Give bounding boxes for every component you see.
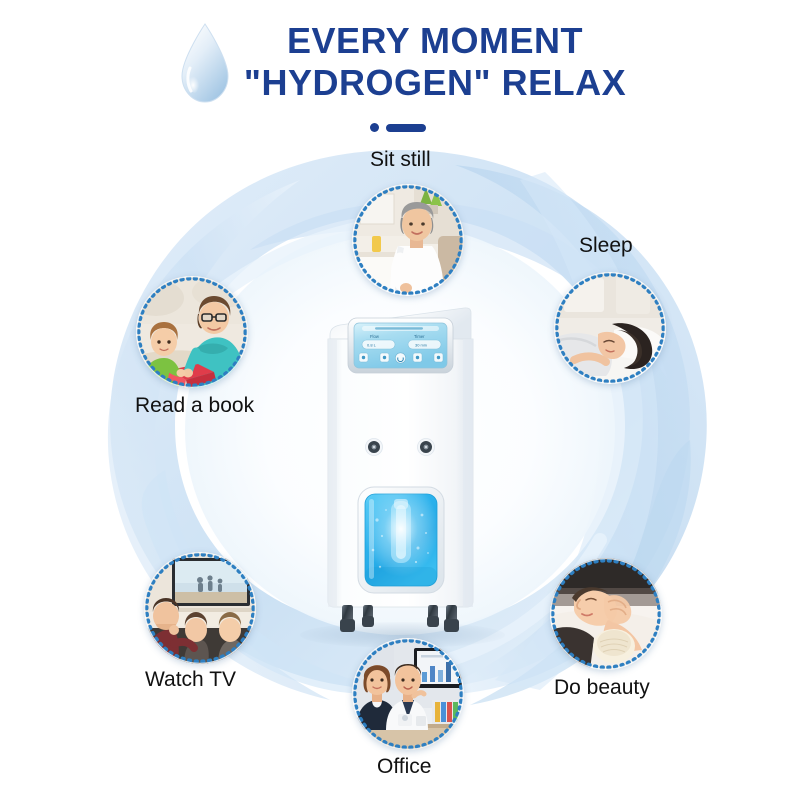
scene-photo-read-a-book[interactable] [136,276,248,388]
photo-woman-sleeping [554,272,666,384]
scene-sleep[interactable]: Sleep [554,272,666,384]
hydrogen-water-machine: Flow Timer 0.8 L 30 min [318,305,483,635]
divider-bar [386,124,426,132]
title-block: EVERY MOMENT "HYDROGEN" RELAX [205,20,665,104]
scene-label-sit-still: Sit still [370,148,431,172]
scene-watch-tv[interactable]: Watch TV [144,552,256,664]
scene-photo-watch-tv[interactable] [144,552,256,664]
scene-photo-do-beauty[interactable] [550,558,662,670]
control-panel-bezel: Flow Timer 0.8 L 30 min [348,318,453,373]
scene-photo-sit-still[interactable] [352,184,464,296]
illuminated-water-tank [358,487,444,593]
scene-label-watch-tv: Watch TV [145,668,236,692]
photo-mother-and-child-reading [136,276,248,388]
divider-dot [370,123,379,132]
scene-label-office: Office [377,755,431,779]
svg-text:30 min: 30 min [415,343,427,348]
scene-photo-sleep[interactable] [554,272,666,384]
scene-label-do-beauty: Do beauty [554,676,650,700]
svg-text:0.8 L: 0.8 L [367,343,377,348]
scene-label-read-a-book: Read a book [135,394,254,418]
scene-photo-office[interactable] [352,638,464,750]
page-title-line-2: "HYDROGEN" RELAX [205,62,665,104]
svg-text:Timer: Timer [414,334,425,339]
scene-read-a-book[interactable]: Read a book [136,276,248,388]
scene-office[interactable]: Office [352,638,464,750]
machine-casters [340,605,459,632]
scene-sit-still[interactable]: Sit still [352,184,464,296]
page-title-line-1: EVERY MOMENT [205,20,665,62]
photo-family-watching-tv [144,552,256,664]
svg-text:Flow: Flow [370,334,380,339]
infographic-canvas: EVERY MOMENT "HYDROGEN" RELAX [0,0,800,800]
photo-office-workers [352,638,464,750]
header: EVERY MOMENT "HYDROGEN" RELAX [0,0,800,140]
scene-label-sleep: Sleep [579,234,633,258]
photo-facial-spa-treatment [550,558,662,670]
title-divider [370,123,426,132]
photo-elderly-woman-sitting [352,184,464,296]
scene-do-beauty[interactable]: Do beauty [550,558,662,670]
